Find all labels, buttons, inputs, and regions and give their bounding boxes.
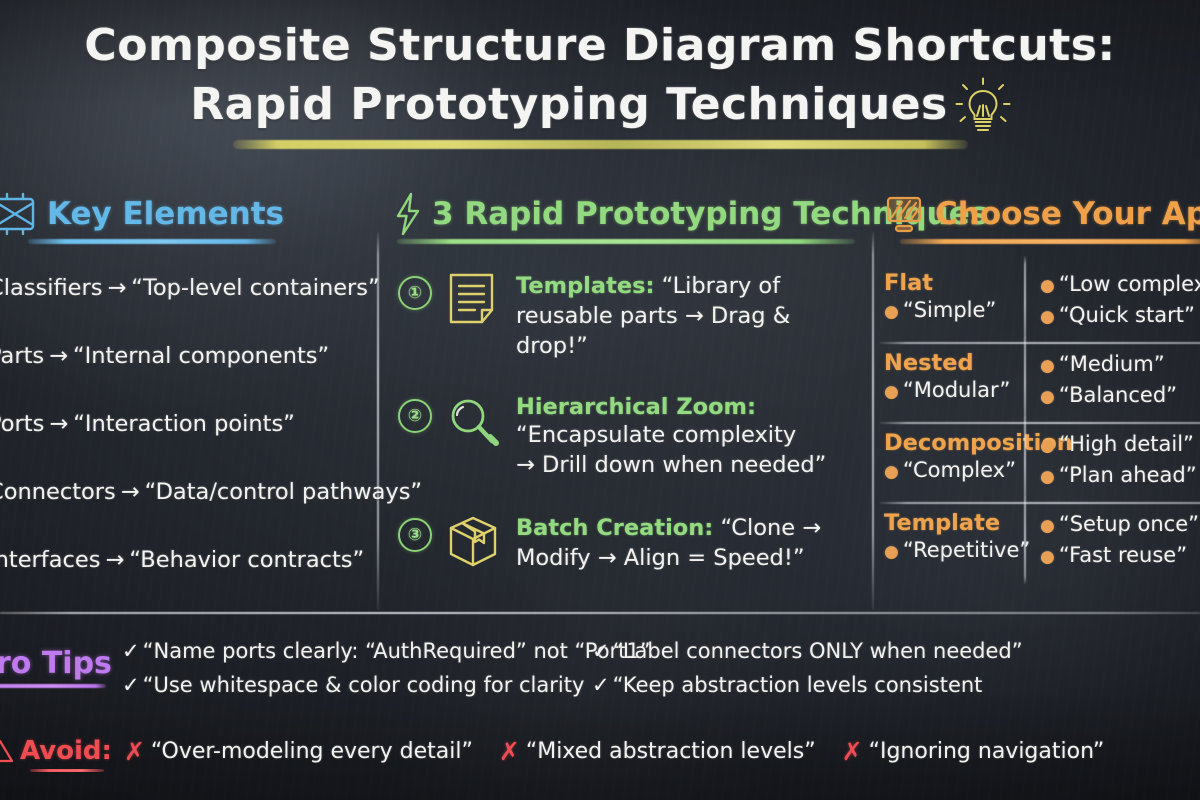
table-row: Template ●“Repetitive” ●“Setup once” ●“F… — [884, 502, 1200, 582]
table-cell-notes: ●“Low complexity” ●“Quick start” — [1024, 262, 1200, 342]
avoid-item: ✗ “Mixed abstraction levels” — [499, 737, 816, 766]
technique-title: Batch Creation: — [516, 515, 713, 541]
bullet-dot: ● — [1040, 436, 1055, 456]
element-definition: “Data/control pathways” — [145, 479, 422, 505]
approach-name: Template — [884, 510, 1024, 536]
list-item: Connectors→“Data/control pathways” — [0, 479, 380, 505]
element-term: Parts — [0, 343, 44, 369]
lightning-bolt-icon — [393, 192, 423, 236]
element-definition: “Top-level containers” — [131, 275, 379, 301]
lightbulb-icon — [956, 78, 1010, 136]
heading-underline — [28, 239, 276, 244]
bullet-dot: ● — [884, 382, 899, 402]
table-cell-approach: Decomposition ●“Complex” — [884, 422, 1024, 502]
pro-tip-item: ✓“Name ports clearly: “AuthRequired” not… — [122, 634, 592, 668]
bullet-dot: ● — [1040, 516, 1055, 536]
technique-line-1: Templates: “Library of — [516, 271, 868, 301]
diagram-box-icon — [0, 192, 38, 236]
arrow-icon: → — [121, 479, 140, 505]
avoid-section: Avoid: ✗ “Over-modeling every detail” ✗ … — [0, 736, 1200, 766]
page-title-line-2: Rapid Prototyping Techniques — [190, 77, 948, 133]
table-row: Nested ●“Modular” ●“Medium” ●“Balanced” — [884, 342, 1200, 422]
technique-item: ② Hierarchical Zoom: “Encapsulate comple… — [398, 391, 868, 480]
avoid-label: Avoid: — [20, 736, 112, 766]
pro-tips-underline — [0, 684, 106, 688]
approach-trait: ●“Complex” — [884, 456, 1024, 487]
technique-line-1: “Encapsulate complexity — [516, 420, 826, 450]
technique-number: ② — [398, 399, 432, 433]
title-underline — [233, 140, 968, 149]
warning-triangle-icon — [0, 738, 14, 764]
bullet-dot: ● — [1040, 467, 1055, 487]
element-definition: “Internal components” — [73, 343, 329, 369]
bullet-dot: ● — [884, 302, 899, 322]
list-item: Ports→“Interaction points” — [0, 411, 380, 437]
element-term: Interfaces — [0, 547, 100, 573]
pro-tip-item: ✓“Label connectors ONLY when needed” — [592, 634, 1200, 668]
x-icon: ✗ — [124, 737, 145, 766]
approach-name: Decomposition — [884, 430, 1024, 456]
approach-comparison-table: Flat ●“Simple” ●“Low complexity” ●“Quick… — [884, 262, 1200, 582]
approach-note: ●“High detail” — [1040, 430, 1200, 461]
package-box-icon — [442, 512, 510, 574]
check-icon: ✓ — [592, 639, 610, 663]
check-icon: ✓ — [122, 639, 140, 663]
pro-tips-label: Pro Tips — [0, 646, 122, 681]
technique-line-2: reusable parts → Drag & drop!” — [516, 301, 868, 361]
bullet-dot: ● — [884, 462, 899, 482]
whiteboard-icon — [884, 192, 926, 236]
key-elements-list: Classifiers→“Top-level containers” Parts… — [0, 275, 380, 615]
bullet-dot: ● — [884, 542, 899, 562]
approach-name: Nested — [884, 350, 1024, 376]
avoid-item-text: “Mixed abstraction levels” — [526, 739, 816, 764]
pro-tip-item: ✓“Use whitespace & color coding for clar… — [122, 668, 592, 702]
arrow-icon: → — [49, 343, 68, 369]
technique-item: ① Templates: “Library of reusable parts … — [398, 268, 868, 361]
chalkboard-canvas: Composite Structure Diagram Shortcuts: R… — [0, 0, 1200, 800]
list-item: Classifiers→“Top-level containers” — [0, 275, 380, 301]
table-cell-approach: Template ●“Repetitive” — [884, 502, 1024, 582]
page-title-row-2: Rapid Prototyping Techniques — [0, 74, 1200, 136]
arrow-icon: → — [105, 547, 124, 573]
column-heading-label: Choose Your Approach — [935, 196, 1200, 232]
x-icon: ✗ — [499, 737, 520, 766]
table-cell-notes: ●“Setup once” ●“Fast reuse” — [1024, 502, 1200, 582]
approach-trait: ●“Repetitive” — [884, 536, 1024, 567]
list-item: Parts→“Internal components” — [0, 343, 380, 369]
bullet-dot: ● — [1040, 307, 1055, 327]
pro-tips-label-block: Pro Tips — [0, 634, 122, 688]
avoid-item: ✗ “Over-modeling every detail” — [124, 737, 473, 766]
technique-title: Hierarchical Zoom: — [516, 394, 826, 420]
technique-number: ① — [398, 276, 432, 310]
bullet-dot: ● — [1040, 276, 1055, 296]
column-header-techniques: 3 Rapid Prototyping Techniques — [393, 192, 863, 244]
arrow-icon: → — [49, 411, 68, 437]
element-term: Classifiers — [0, 275, 102, 301]
approach-trait: ●“Simple” — [884, 296, 1024, 327]
table-cell-approach: Flat ●“Simple” — [884, 262, 1024, 342]
technique-title: Templates: — [516, 273, 654, 299]
check-icon: ✓ — [122, 673, 140, 697]
column-header-key-elements: Key Elements — [0, 192, 382, 244]
approach-note: ●“Low complexity” — [1040, 270, 1200, 301]
approach-note: ●“Balanced” — [1040, 381, 1200, 412]
pro-tips-section: Pro Tips ✓“Name ports clearly: “AuthRequ… — [0, 634, 1200, 702]
pro-tips-column-b: ✓“Label connectors ONLY when needed” ✓“K… — [592, 634, 1200, 702]
bullet-dot: ● — [1040, 356, 1055, 376]
table-cell-approach: Nested ●“Modular” — [884, 342, 1024, 422]
technique-item: ③ Batch Creation: “Clone → Modify → Alig… — [398, 510, 868, 574]
avoid-label-block: Avoid: — [0, 736, 112, 766]
technique-line-2: Modify → Align = Speed!” — [516, 543, 821, 573]
page-title-line-1: Composite Structure Diagram Shortcuts: — [0, 18, 1200, 74]
table-cell-notes: ●“Medium” ●“Balanced” — [1024, 342, 1200, 422]
avoid-item-text: “Over-modeling every detail” — [151, 739, 473, 764]
avoid-item: ✗ “Ignoring navigation” — [842, 737, 1105, 766]
element-term: Ports — [0, 411, 44, 437]
bullet-dot: ● — [1040, 547, 1055, 567]
technique-line-2: → Drill down when needed” — [516, 450, 826, 480]
technique-body: Batch Creation: “Clone → Modify → Align … — [516, 510, 821, 573]
approach-name: Flat — [884, 270, 1024, 296]
check-icon: ✓ — [592, 673, 610, 697]
heading-underline — [397, 239, 855, 244]
table-row: Decomposition ●“Complex” ●“High detail” … — [884, 422, 1200, 502]
pro-tips-column-a: ✓“Name ports clearly: “AuthRequired” not… — [122, 634, 592, 702]
approach-trait: ●“Modular” — [884, 376, 1024, 407]
approach-note: ●“Fast reuse” — [1040, 541, 1200, 572]
technique-line-1: Batch Creation: “Clone → — [516, 513, 821, 543]
x-icon: ✗ — [842, 737, 863, 766]
approach-note: ●“Setup once” — [1040, 510, 1200, 541]
techniques-list: ① Templates: “Library of reusable parts … — [398, 268, 868, 604]
pro-tip-item: ✓“Keep abstraction levels consistent — [592, 668, 1200, 702]
heading-underline — [900, 239, 1200, 244]
technique-number: ③ — [398, 518, 432, 552]
column-header-approach: Choose Your Approach — [884, 192, 1200, 244]
list-item: Interfaces→“Behavior contracts” — [0, 547, 380, 573]
element-definition: “Interaction points” — [73, 411, 295, 437]
approach-note: ●“Medium” — [1040, 350, 1200, 381]
avoid-item-text: “Ignoring navigation” — [869, 739, 1105, 764]
document-lines-icon — [442, 270, 510, 332]
table-cell-notes: ●“High detail” ●“Plan ahead” — [1024, 422, 1200, 502]
bullet-dot: ● — [1040, 387, 1055, 407]
technique-body: Templates: “Library of reusable parts → … — [516, 268, 868, 361]
element-definition: “Behavior contracts” — [129, 547, 364, 573]
column-heading-label: Key Elements — [47, 196, 284, 232]
element-term: Connectors — [0, 479, 116, 505]
magnifying-glass-icon — [442, 393, 510, 455]
table-row: Flat ●“Simple” ●“Low complexity” ●“Quick… — [884, 262, 1200, 342]
approach-note: ●“Quick start” — [1040, 301, 1200, 332]
column-divider-right — [872, 232, 874, 610]
arrow-icon: → — [107, 275, 126, 301]
approach-note: ●“Plan ahead” — [1040, 461, 1200, 492]
technique-text-part-1: “Library of — [662, 273, 780, 299]
title-block: Composite Structure Diagram Shortcuts: R… — [0, 18, 1200, 149]
technique-body: Hierarchical Zoom: “Encapsulate complexi… — [516, 391, 826, 480]
technique-text-part-1: “Clone → — [720, 515, 821, 541]
